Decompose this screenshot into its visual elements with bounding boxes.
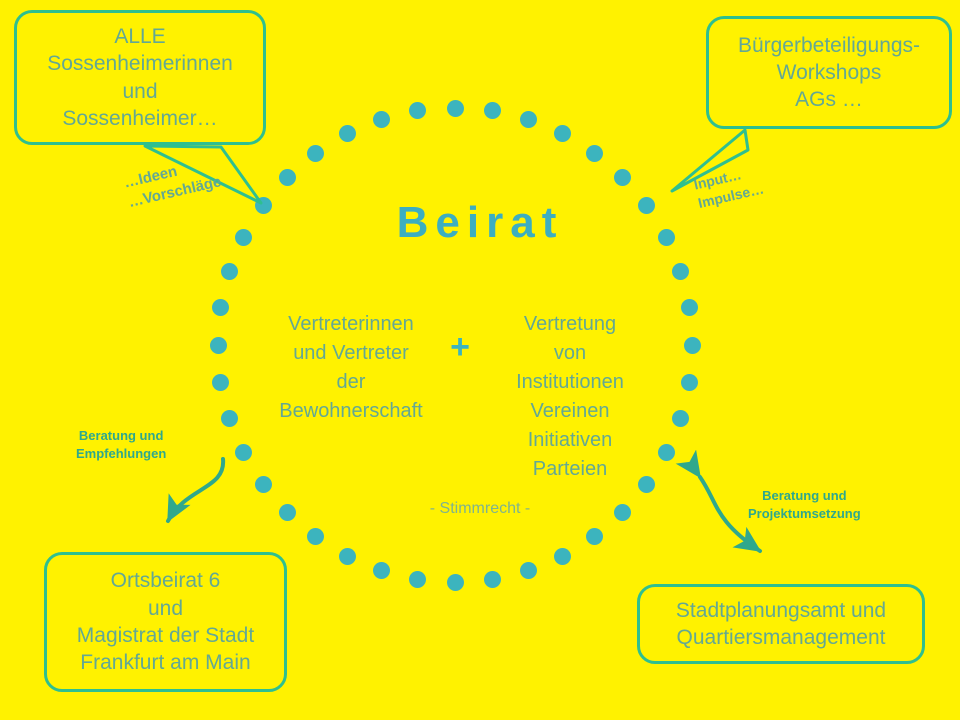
center-column-bewohnerschaft: Vertreterinnenund VertreterderBewohnersc… bbox=[256, 310, 446, 426]
box-ortsbeirat-magistrat[interactable]: Ortsbeirat 6undMagistrat der StadtFrankf… bbox=[44, 552, 287, 692]
callout-box-alle-sossenheimer[interactable]: ALLESossenheimerinnenundSossenheimer… bbox=[14, 10, 266, 145]
callout-text-alle: ALLESossenheimerinnenundSossenheimer… bbox=[17, 23, 263, 132]
label-beratung-und-empfehlungen: Beratung undEmpfehlungen bbox=[76, 427, 166, 462]
center-footnote-stimmrecht: - Stimmrecht - bbox=[0, 500, 960, 518]
box-text-ortsbeirat: Ortsbeirat 6undMagistrat der StadtFrankf… bbox=[47, 567, 284, 676]
box-text-stadtplanungsamt: Stadtplanungsamt undQuartiersmanagement bbox=[640, 597, 922, 652]
center-column-institutionen: VertretungvonInstitutionenVereinenInitia… bbox=[470, 310, 670, 484]
page-title-beirat: Beirat bbox=[0, 198, 960, 248]
diagram-canvas: ALLESossenheimerinnenundSossenheimer… Bü… bbox=[0, 0, 960, 720]
box-stadtplanungsamt-quartiersmanagement[interactable]: Stadtplanungsamt undQuartiersmanagement bbox=[637, 584, 925, 664]
callout-text-buergerbeteiligung: Bürgerbeteiligungs-WorkshopsAGs … bbox=[709, 32, 949, 114]
callout-box-buergerbeteiligung[interactable]: Bürgerbeteiligungs-WorkshopsAGs … bbox=[706, 16, 952, 129]
